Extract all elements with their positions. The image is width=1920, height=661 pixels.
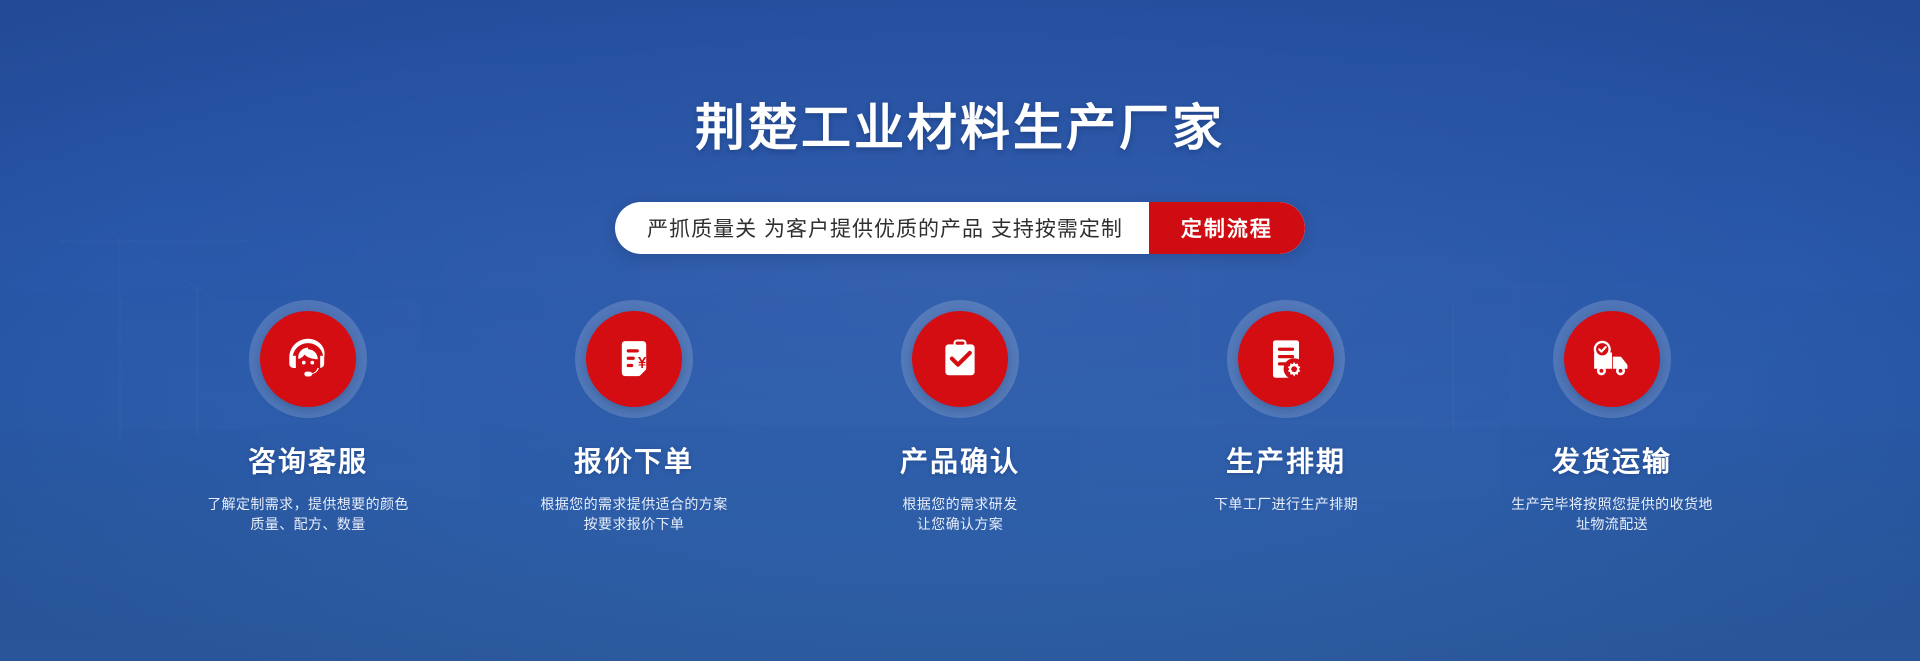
delivery-truck-check-icon	[1586, 333, 1638, 385]
step-title: 咨询客服	[173, 440, 443, 480]
step-desc-line: 址物流配送	[1477, 514, 1747, 534]
step-desc-line: 根据您的需求提供适合的方案	[499, 494, 769, 514]
process-steps: 咨询客服 了解定制需求，提供想要的颜色 质量、配方、数量	[0, 300, 1920, 534]
icon-ring	[901, 300, 1019, 418]
icon-ring	[1553, 300, 1671, 418]
step-description: 根据您的需求提供适合的方案 按要求报价下单	[499, 494, 769, 534]
clipboard-check-icon	[934, 333, 986, 385]
headset-agent-icon	[282, 333, 334, 385]
icon-disc	[260, 311, 356, 407]
process-step[interactable]: 生产排期 下单工厂进行生产排期	[1151, 300, 1421, 514]
step-desc-line: 下单工厂进行生产排期	[1151, 494, 1421, 514]
icon-ring	[575, 300, 693, 418]
process-step[interactable]: 发货运输 生产完毕将按照您提供的收货地 址物流配送	[1477, 300, 1747, 534]
step-description: 根据您的需求研发 让您确认方案	[825, 494, 1095, 534]
step-desc-line: 根据您的需求研发	[825, 494, 1095, 514]
icon-ring	[1227, 300, 1345, 418]
icon-disc	[1564, 311, 1660, 407]
step-title: 发货运输	[1477, 440, 1747, 480]
step-desc-line: 了解定制需求，提供想要的颜色	[173, 494, 443, 514]
step-description: 下单工厂进行生产排期	[1151, 494, 1421, 514]
process-step[interactable]: 产品确认 根据您的需求研发 让您确认方案	[825, 300, 1095, 534]
step-title: 生产排期	[1151, 440, 1421, 480]
step-desc-line: 按要求报价下单	[499, 514, 769, 534]
icon-ring	[249, 300, 367, 418]
document-gear-icon	[1260, 333, 1312, 385]
promo-banner: 荆楚工业材料生产厂家 严抓质量关 为客户提供优质的产品 支持按需定制 定制流程	[0, 0, 1920, 661]
page-title: 荆楚工业材料生产厂家	[0, 88, 1920, 160]
step-desc-line: 让您确认方案	[825, 514, 1095, 534]
step-desc-line: 生产完毕将按照您提供的收货地	[1477, 494, 1747, 514]
slogan-pill: 严抓质量关 为客户提供优质的产品 支持按需定制 定制流程	[0, 202, 1920, 254]
step-description: 生产完毕将按照您提供的收货地 址物流配送	[1477, 494, 1747, 534]
icon-disc	[1238, 311, 1334, 407]
step-title: 产品确认	[825, 440, 1095, 480]
slogan-text: 严抓质量关 为客户提供优质的产品 支持按需定制	[615, 202, 1149, 254]
icon-disc	[586, 311, 682, 407]
step-description: 了解定制需求，提供想要的颜色 质量、配方、数量	[173, 494, 443, 534]
custom-process-button[interactable]: 定制流程	[1149, 202, 1305, 254]
step-title: 报价下单	[499, 440, 769, 480]
process-step[interactable]: 咨询客服 了解定制需求，提供想要的颜色 质量、配方、数量	[173, 300, 443, 534]
step-desc-line: 质量、配方、数量	[173, 514, 443, 534]
invoice-yuan-icon	[608, 333, 660, 385]
process-step[interactable]: 报价下单 根据您的需求提供适合的方案 按要求报价下单	[499, 300, 769, 534]
icon-disc	[912, 311, 1008, 407]
